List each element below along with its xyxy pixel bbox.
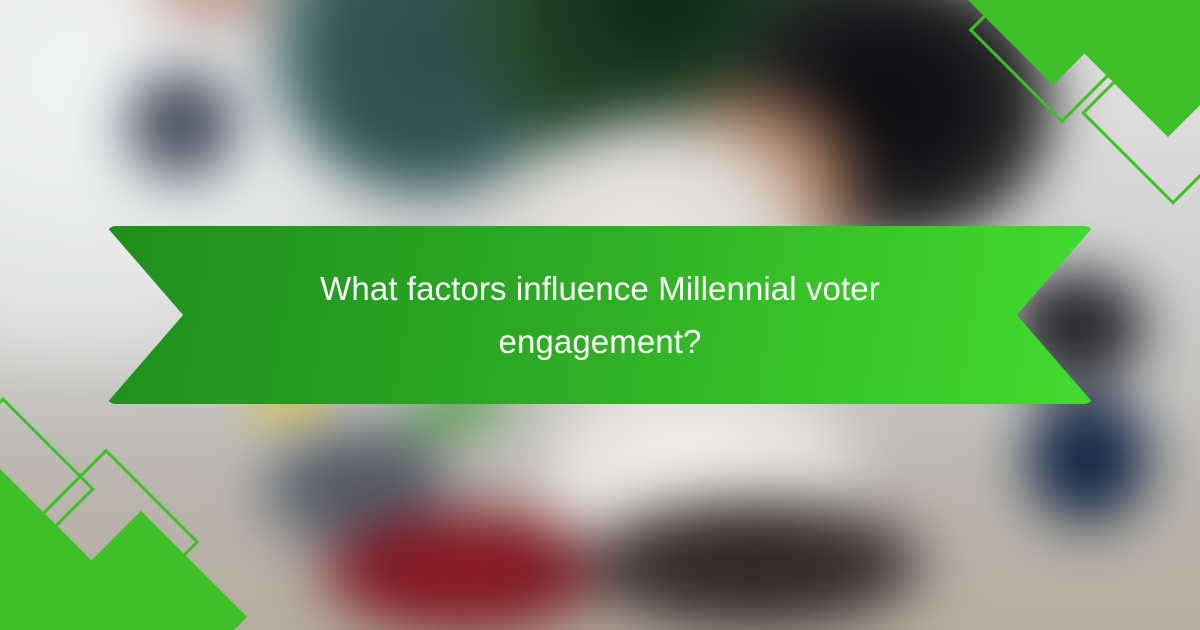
banner-title: What factors influence Millennial voter … <box>240 262 960 369</box>
bg-red-garment <box>314 511 611 630</box>
bottom-left-decoration <box>0 410 240 630</box>
top-right-decoration <box>960 0 1200 220</box>
ribbon-banner: What factors influence Millennial voter … <box>106 226 1094 404</box>
bg-shelf-dark-object <box>123 66 240 183</box>
banner-title-line-1: What factors influence Millennial voter <box>320 270 880 307</box>
bg-navy-object <box>1019 384 1157 532</box>
banner-title-line-2: engagement? <box>499 323 702 360</box>
bg-dark-foreground <box>579 495 929 630</box>
banner-canvas: What factors influence Millennial voter … <box>0 0 1200 630</box>
